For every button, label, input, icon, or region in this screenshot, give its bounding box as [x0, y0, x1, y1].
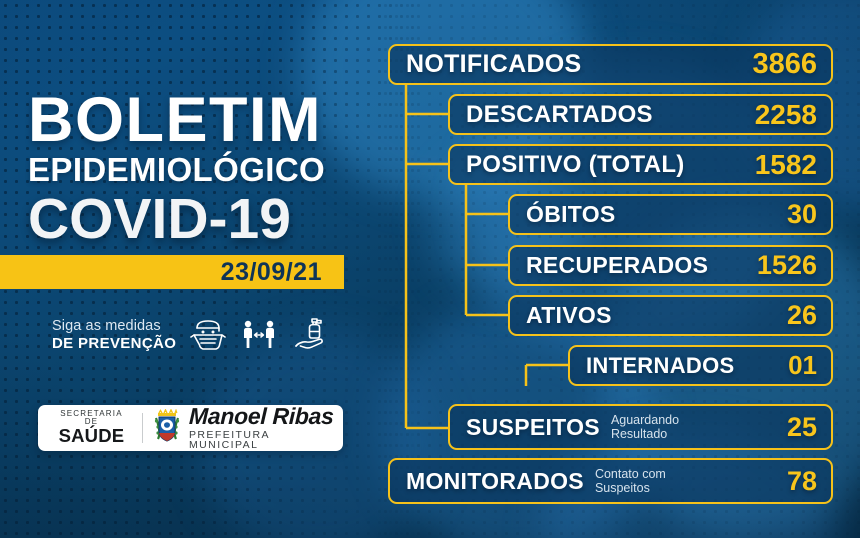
- stat-row-notificados: NOTIFICADOS 3866: [388, 44, 833, 85]
- stat-row-positivo: POSITIVO (TOTAL) 1582: [448, 144, 833, 185]
- stat-sublabel-line2: Suspeitos: [595, 481, 650, 495]
- stat-value: 01: [788, 350, 817, 381]
- statistics-tree: NOTIFICADOS 3866 DESCARTADOS 2258 POSITI…: [0, 0, 860, 538]
- stat-sublabel-line1: Aguardando: [611, 413, 679, 427]
- stat-value: 25: [787, 412, 817, 443]
- stat-row-recuperados: RECUPERADOS 1526: [508, 245, 833, 286]
- stat-sublabel-line2: Resultado: [611, 427, 667, 441]
- stat-value: 78: [787, 466, 817, 497]
- stat-row-ativos: ATIVOS 26: [508, 295, 833, 336]
- stat-label: INTERNADOS: [586, 353, 734, 379]
- stat-sublabel: Aguardando Resultado: [611, 413, 679, 442]
- stat-value: 3866: [752, 48, 817, 81]
- stat-label: ATIVOS: [526, 302, 612, 329]
- stat-row-internados: INTERNADOS 01: [568, 345, 833, 386]
- stat-row-descartados: DESCARTADOS 2258: [448, 94, 833, 135]
- stat-row-obitos: ÓBITOS 30: [508, 194, 833, 235]
- stat-value: 26: [787, 300, 817, 331]
- stat-label: POSITIVO (TOTAL): [466, 151, 685, 179]
- stat-value: 1526: [757, 250, 817, 281]
- stat-value: 2258: [755, 99, 817, 131]
- stat-label: SUSPEITOS: [466, 414, 600, 441]
- stat-label: MONITORADOS: [406, 468, 584, 495]
- stat-row-monitorados: MONITORADOS Contato com Suspeitos 78: [388, 458, 833, 504]
- stat-label: DESCARTADOS: [466, 101, 653, 129]
- stat-value: 1582: [755, 149, 817, 181]
- poster-canvas: BOLETIM EPIDEMIOLÓGICO COVID-19 23/09/21…: [0, 0, 860, 538]
- stat-label: RECUPERADOS: [526, 252, 708, 279]
- stat-label: ÓBITOS: [526, 201, 616, 228]
- stat-sublabel: Contato com Suspeitos: [595, 467, 666, 496]
- stat-label: NOTIFICADOS: [406, 50, 582, 79]
- stat-sublabel-line1: Contato com: [595, 467, 666, 481]
- stat-row-suspeitos: SUSPEITOS Aguardando Resultado 25: [448, 404, 833, 450]
- stat-value: 30: [787, 199, 817, 230]
